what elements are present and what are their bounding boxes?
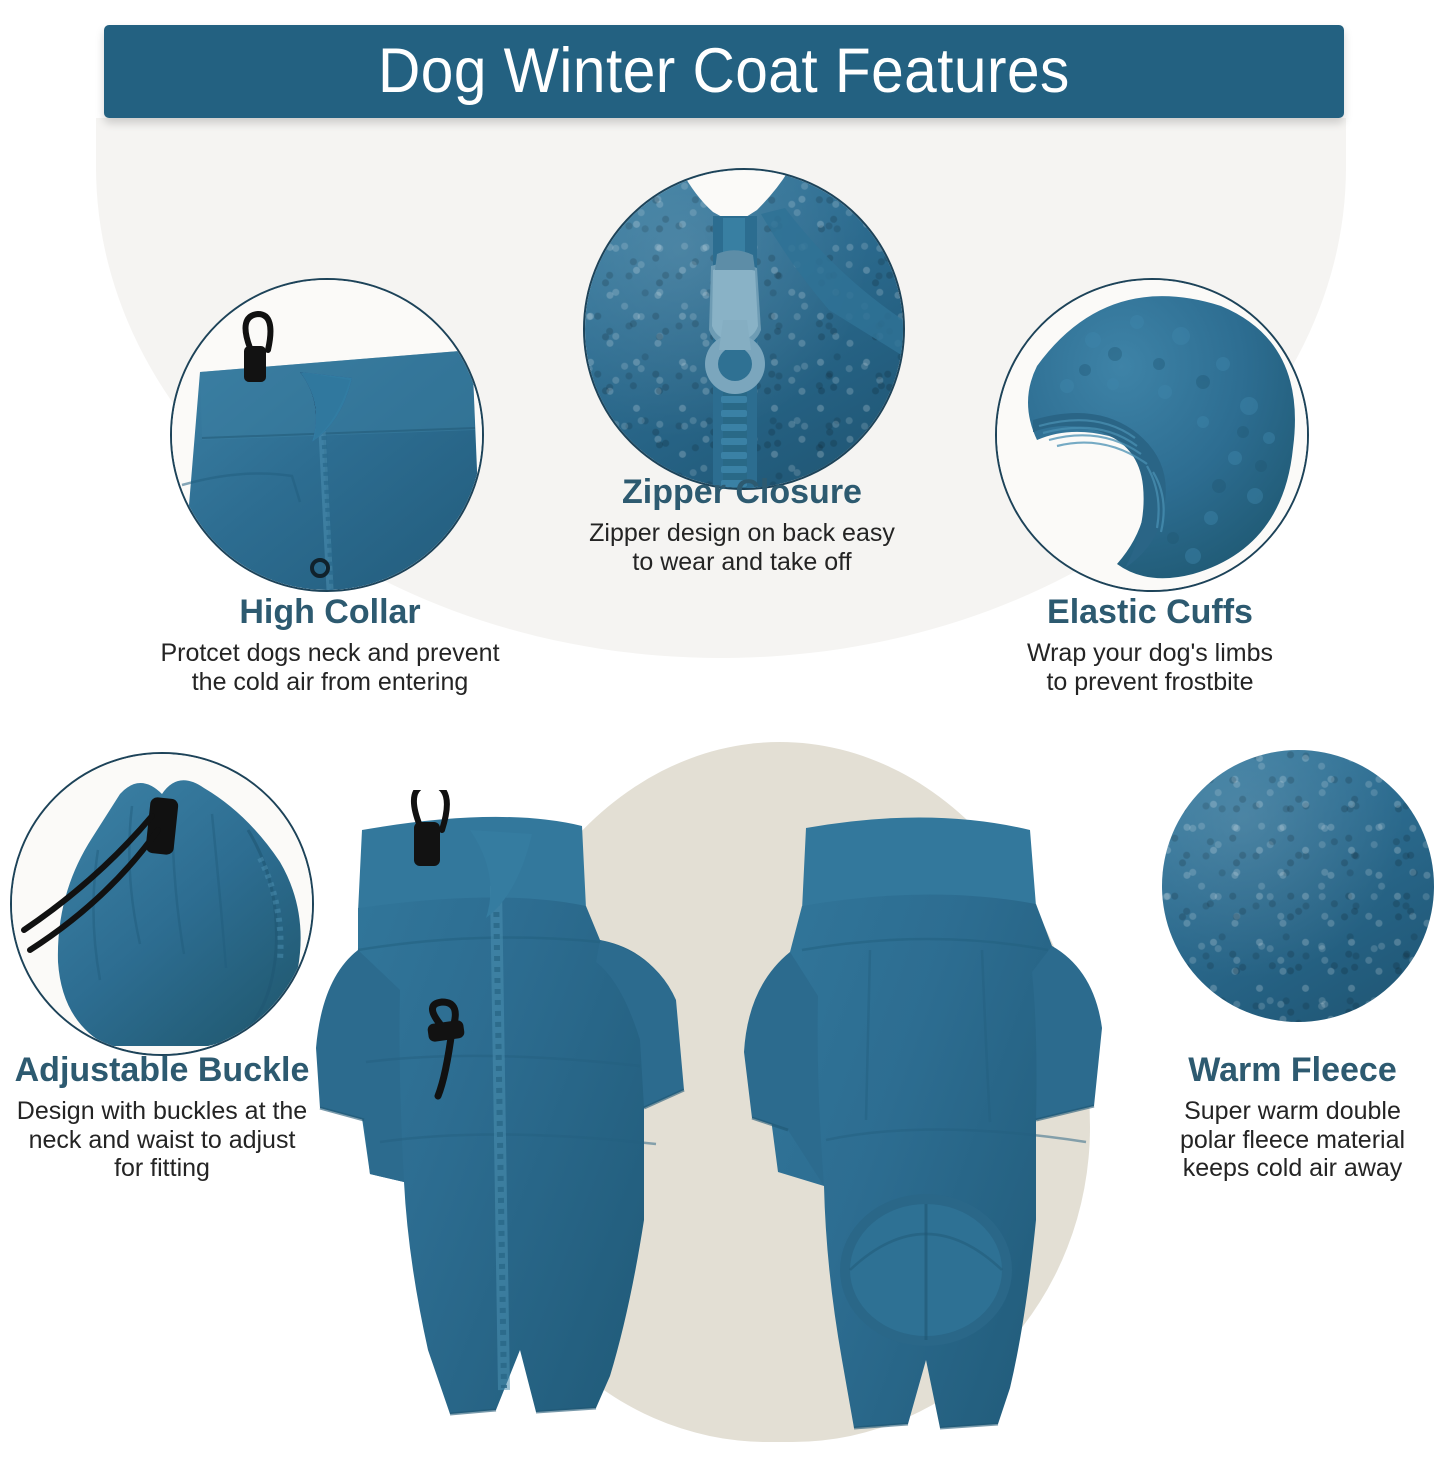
desc-line: Design with buckles at the — [2, 1097, 322, 1125]
elastic-cuffs-photo — [995, 278, 1309, 592]
feature-description: Zipper design on back easy to wear and t… — [512, 519, 972, 576]
desc-line: keeps cold air away — [1140, 1154, 1445, 1182]
dog-coat-back-view — [730, 800, 1130, 1469]
buckle-illustration — [12, 754, 312, 1054]
zipper-illustration — [585, 170, 903, 488]
fleece-swatch — [1162, 750, 1434, 1022]
feature-description: Super warm double polar fleece material … — [1140, 1097, 1445, 1182]
feature-description: Protcet dogs neck and prevent the cold a… — [100, 639, 560, 696]
feature-adjustable-buckle: Adjustable Buckle Design with buckles at… — [2, 1052, 322, 1182]
desc-line: for fitting — [2, 1154, 322, 1182]
feature-title: Elastic Cuffs — [920, 594, 1380, 631]
front-view-illustration — [300, 790, 730, 1469]
high-collar-photo — [170, 278, 484, 592]
desc-line: to prevent frostbite — [920, 668, 1380, 696]
desc-line: Wrap your dog's limbs — [920, 639, 1380, 667]
desc-line: Protcet dogs neck and prevent — [100, 639, 560, 667]
desc-line: neck and waist to adjust — [2, 1126, 322, 1154]
elastic-cuff-illustration — [997, 280, 1307, 590]
desc-line: Super warm double — [1140, 1097, 1445, 1125]
adjustable-buckle-photo — [10, 752, 314, 1056]
warm-fleece-photo — [1162, 750, 1434, 1022]
header-banner: Dog Winter Coat Features — [104, 25, 1344, 118]
zipper-closure-photo — [583, 168, 905, 490]
desc-line: the cold air from entering — [100, 668, 560, 696]
infographic-page: Dog Winter Coat Features — [0, 0, 1445, 1469]
dog-coat-front-view — [300, 790, 730, 1469]
feature-high-collar: High Collar Protcet dogs neck and preven… — [100, 594, 560, 696]
feature-title: Warm Fleece — [1140, 1052, 1445, 1089]
back-view-illustration — [730, 800, 1130, 1469]
desc-line: to wear and take off — [512, 548, 972, 576]
feature-description: Design with buckles at the neck and wais… — [2, 1097, 322, 1182]
high-collar-illustration — [172, 280, 482, 590]
desc-line: Zipper design on back easy — [512, 519, 972, 547]
feature-title: Zipper Closure — [512, 474, 972, 511]
feature-title: High Collar — [100, 594, 560, 631]
feature-warm-fleece: Warm Fleece Super warm double polar flee… — [1140, 1052, 1445, 1182]
feature-zipper-closure: Zipper Closure Zipper design on back eas… — [512, 474, 972, 576]
feature-elastic-cuffs: Elastic Cuffs Wrap your dog's limbs to p… — [920, 594, 1380, 696]
feature-description: Wrap your dog's limbs to prevent frostbi… — [920, 639, 1380, 696]
feature-title: Adjustable Buckle — [2, 1052, 322, 1089]
desc-line: polar fleece material — [1140, 1126, 1445, 1154]
page-title: Dog Winter Coat Features — [378, 40, 1070, 103]
